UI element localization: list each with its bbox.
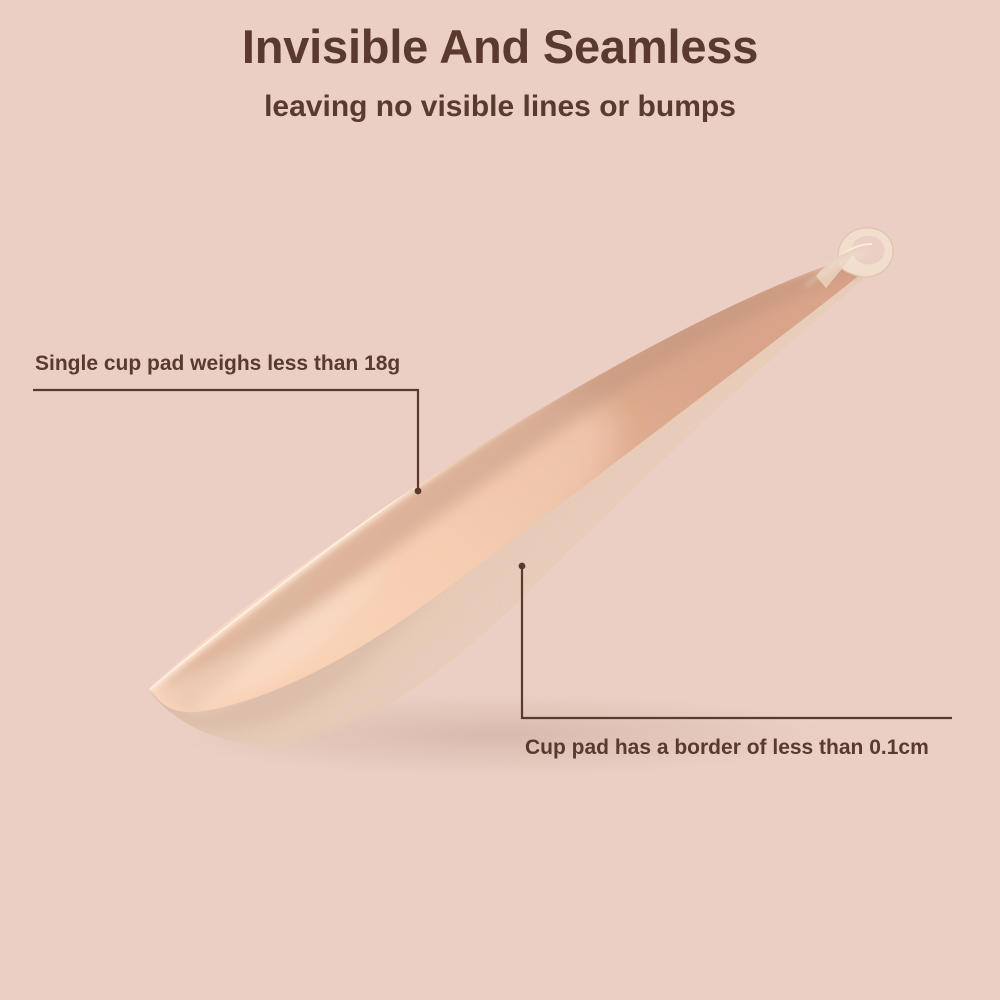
page-subtitle: leaving no visible lines or bumps [0, 90, 1000, 123]
page-title: Invisible And Seamless [0, 22, 1000, 71]
callout-label-border: Cup pad has a border of less than 0.1cm [525, 736, 929, 759]
product-illustration [0, 0, 1000, 1000]
product-feature-poster: Invisible And Seamless leaving no visibl… [0, 0, 1000, 1000]
callout-label-weight: Single cup pad weighs less than 18g [35, 352, 400, 375]
